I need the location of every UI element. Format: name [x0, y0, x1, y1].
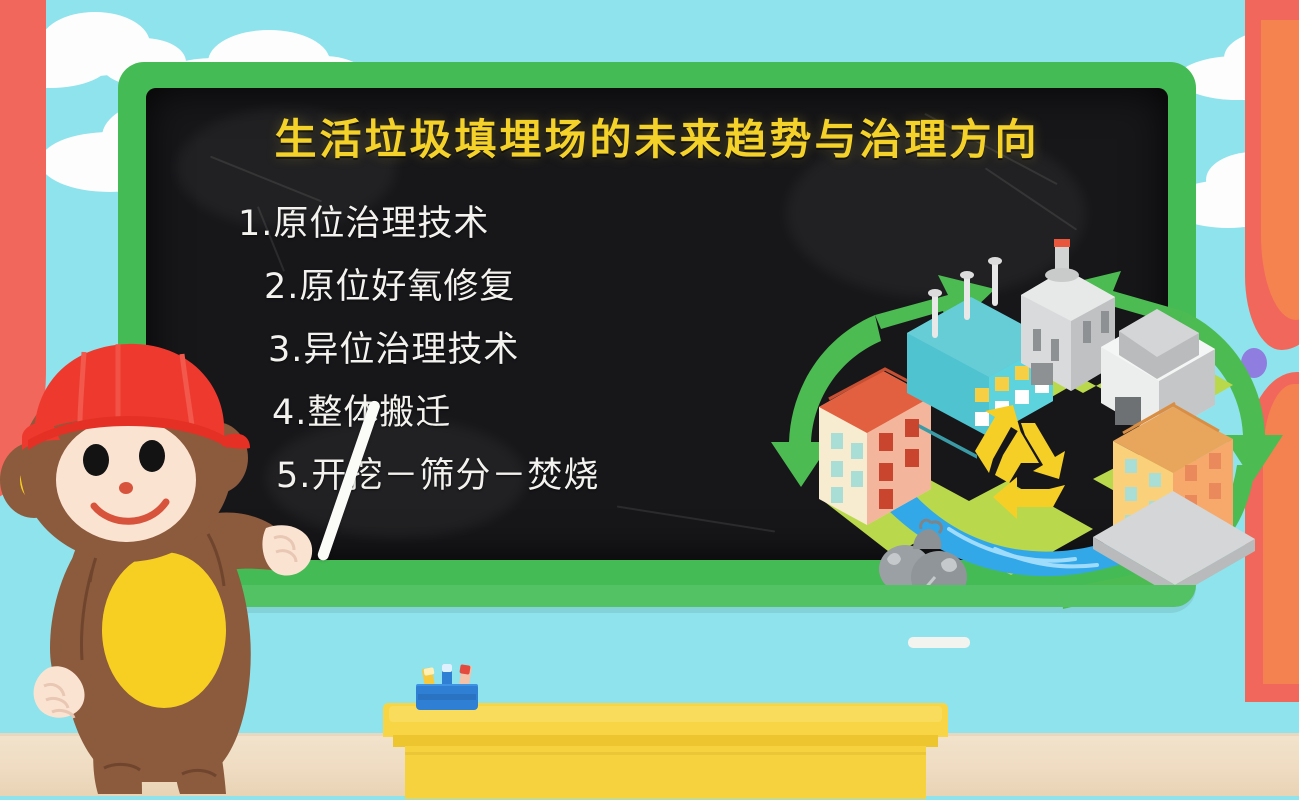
page-title: 生活垃圾填埋场的未来趋势与治理方向 [118, 106, 1196, 167]
chalk-piece [908, 637, 970, 648]
pen-holder[interactable] [416, 676, 478, 710]
monkey-belly [102, 552, 226, 708]
monkey-eye-right [139, 440, 165, 472]
monkey-teacher [0, 330, 322, 800]
list-item: 2.原位好氧修复 [264, 270, 708, 305]
teacher-desk [383, 703, 948, 796]
list-item: 3.异位治理技术 [268, 333, 708, 368]
desk-front-panel [405, 746, 926, 799]
chimney [1045, 239, 1079, 282]
marker-red-cap [459, 664, 470, 674]
power-plant-gray [1021, 239, 1115, 391]
monkey-eye-left [83, 444, 109, 476]
classroom-scene: 生活垃圾填埋场的未来趋势与治理方向 1.原位治理技术 2.原位好氧修复 3.异位… [0, 0, 1299, 796]
monkey-leg-left [93, 722, 142, 794]
waste-recycling-cycle-diagram [763, 237, 1293, 637]
list-item: 1.原位治理技术 [238, 207, 708, 242]
list-item: 4.整体搬迁 [272, 396, 708, 431]
marker-blue-cap [442, 664, 452, 672]
chimney-red-top [1054, 239, 1070, 247]
office-building-orange [1093, 403, 1255, 597]
monkey-nose [119, 482, 133, 494]
